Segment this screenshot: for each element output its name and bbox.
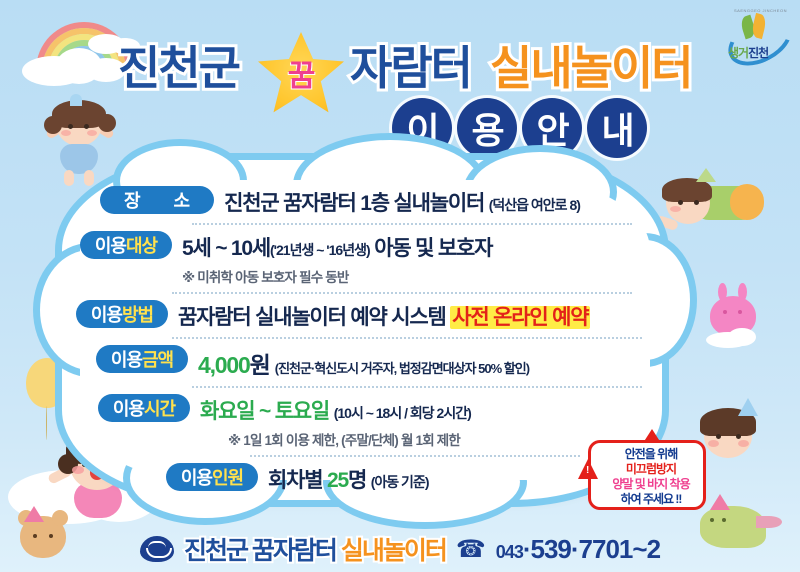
info-row-method: 이용방법 꿈자람터 실내놀이터 예약 시스템 사전 온라인 예약: [76, 300, 654, 331]
warning-triangle-icon: [578, 459, 598, 479]
row-label-hours-b: 시간: [144, 395, 175, 421]
subtitle-char-4: 내: [587, 98, 647, 158]
star-word: 꿈: [258, 51, 344, 95]
hours-days: 화요일 ~ 토요일: [200, 400, 329, 423]
warning-line-2: 미끄럼방지: [601, 462, 701, 477]
logo-name-green: 생거: [728, 46, 748, 60]
row-label-target: 이용대상: [80, 231, 172, 259]
footer-name: 진천군 꿈자람터 실내놀이터: [184, 531, 446, 567]
row-label-method-b: 방법: [122, 301, 153, 327]
star-badge: 꿈: [258, 32, 344, 114]
info-row-target: 이용대상 5세 ~ 10세('21년생 ~ '16년생) 아동 및 보호자 ※ …: [80, 231, 654, 286]
row-label-capacity-a: 이용: [181, 464, 212, 490]
row-note-target: ※ 미취학 아동 보호자 필수 동반: [182, 266, 492, 286]
capacity-count: 25: [327, 469, 348, 492]
row-label-location: 장 소: [100, 186, 214, 214]
poster-footer: 진천군 꿈자람터 실내놀이터 ☎ 043·539·7701~2: [0, 526, 800, 572]
row-label-hours-a: 이용: [113, 395, 144, 421]
logo-name-navy: 진천: [748, 46, 768, 60]
row-value-location: 진천군 꿈자람터 1층 실내놀이터 (덕산읍 여안로 8): [224, 187, 580, 217]
jincheon-mark-icon: [140, 536, 174, 562]
row-note-hours: ※ 1일 1회 이용 제한, (주말/단체) 월 1회 제한: [228, 429, 471, 449]
row-value-target: 5세 ~ 10세('21년생 ~ '16년생) 아동 및 보호자: [182, 232, 492, 262]
row-label-hours: 이용시간: [98, 394, 190, 422]
warning-line-1: 안전을 위해: [601, 447, 701, 462]
row-label-fee: 이용금액: [96, 345, 188, 373]
warning-line-3: 양말 및 바지 착용: [601, 477, 701, 492]
info-row-location: 장 소 진천군 꿈자람터 1층 실내놀이터 (덕산읍 여안로 8): [100, 186, 654, 217]
row-divider: [172, 292, 632, 294]
row-label-fee-b: 금액: [142, 346, 173, 372]
title-word-2: 자람터: [350, 38, 471, 98]
row-label-capacity-b: 인원: [212, 464, 243, 490]
character-boy-green: [652, 178, 762, 238]
subtitle-char-3: 안: [522, 98, 582, 158]
row-label-capacity: 이용인원: [166, 463, 258, 491]
fee-discount-note: (진천군·혁신도시 거주자, 법정감면대상자 50% 할인): [275, 361, 529, 376]
row-label-fee-a: 이용: [111, 346, 142, 372]
character-bunny-pink: [706, 288, 766, 348]
row-value-hours: 화요일 ~ 토요일 (10시 ~ 18시 / 회당 2시간): [200, 395, 471, 425]
poster-title: 진천군 꿈 자람터 실내놀이터: [118, 38, 698, 100]
safety-warning-box: 안전을 위해 미끄럼방지 양말 및 바지 착용 하여 주세요 !!: [588, 440, 706, 510]
fee-amount: 4,000: [198, 352, 250, 378]
row-label-method: 이용방법: [76, 300, 168, 328]
row-divider: [192, 223, 632, 225]
footer-name-blue: 진천군 꿈자람터: [184, 537, 336, 565]
footer-phone: 043·539·7701~2: [496, 534, 660, 565]
subtitle-char-2: 용: [457, 98, 517, 158]
info-rows: 장 소 진천군 꿈자람터 1층 실내놀이터 (덕산읍 여안로 8) 이용대상 5…: [74, 186, 654, 496]
row-divider: [192, 386, 642, 388]
location-address: (덕산읍 여안로 8): [489, 197, 580, 213]
target-who: 아동 및 보호자: [374, 237, 492, 260]
capacity-per: 회차별: [268, 469, 322, 492]
footer-name-orange: 실내놀이터: [341, 537, 446, 565]
target-age: 5세 ~ 10세: [182, 237, 270, 260]
method-highlight: 사전 온라인 예약: [450, 306, 590, 329]
row-value-method: 꿈자람터 실내놀이터 예약 시스템 사전 온라인 예약: [178, 301, 590, 331]
capacity-basis: (아동 기준): [371, 474, 429, 490]
poster-root: SAENGGEO JINCHEON 생거진천 진천군 꿈 자람터 실내놀이터 이…: [0, 0, 800, 572]
row-label-method-a: 이용: [91, 301, 122, 327]
phone-prefix: 043: [496, 542, 523, 562]
method-system: 꿈자람터 실내놀이터 예약 시스템: [178, 306, 446, 329]
target-birthyear: ('21년생 ~ '16년생): [270, 242, 370, 258]
info-row-hours: 이용시간 화요일 ~ 토요일 (10시 ~ 18시 / 회당 2시간) ※ 1일…: [98, 394, 654, 449]
location-main: 진천군 꿈자람터 1층 실내놀이터: [224, 192, 484, 215]
phone-rest: ·539·7701~2: [523, 534, 660, 564]
info-row-fee: 이용금액 4,000원 (진천군·혁신도시 거주자, 법정감면대상자 50% 할…: [96, 345, 654, 380]
phone-icon: ☎: [456, 535, 486, 564]
row-divider: [172, 337, 642, 339]
capacity-unit: 명: [348, 469, 366, 492]
logo-tagline: SAENGGEO JINCHEON: [734, 8, 787, 13]
row-label-target-b: 대상: [126, 232, 157, 258]
logo-wordmark: 생거진천: [728, 44, 768, 61]
row-divider: [250, 455, 580, 457]
row-label-target-a: 이용: [95, 232, 126, 258]
row-value-fee: 4,000원 (진천군·혁신도시 거주자, 법정감면대상자 50% 할인): [198, 346, 529, 380]
hours-times: (10시 ~ 18시 / 회당 2시간): [334, 405, 471, 421]
warning-line-4: 하여 주세요 !!: [601, 492, 701, 507]
title-word-3: 실내놀이터: [490, 38, 692, 98]
jincheon-city-logo: SAENGGEO JINCHEON 생거진천: [722, 8, 792, 68]
fee-unit: 원: [250, 352, 270, 378]
row-value-capacity: 회차별 25명 (아동 기준): [268, 464, 428, 494]
title-word-1: 진천군: [118, 38, 239, 98]
character-girl-jumping: [44, 100, 116, 186]
